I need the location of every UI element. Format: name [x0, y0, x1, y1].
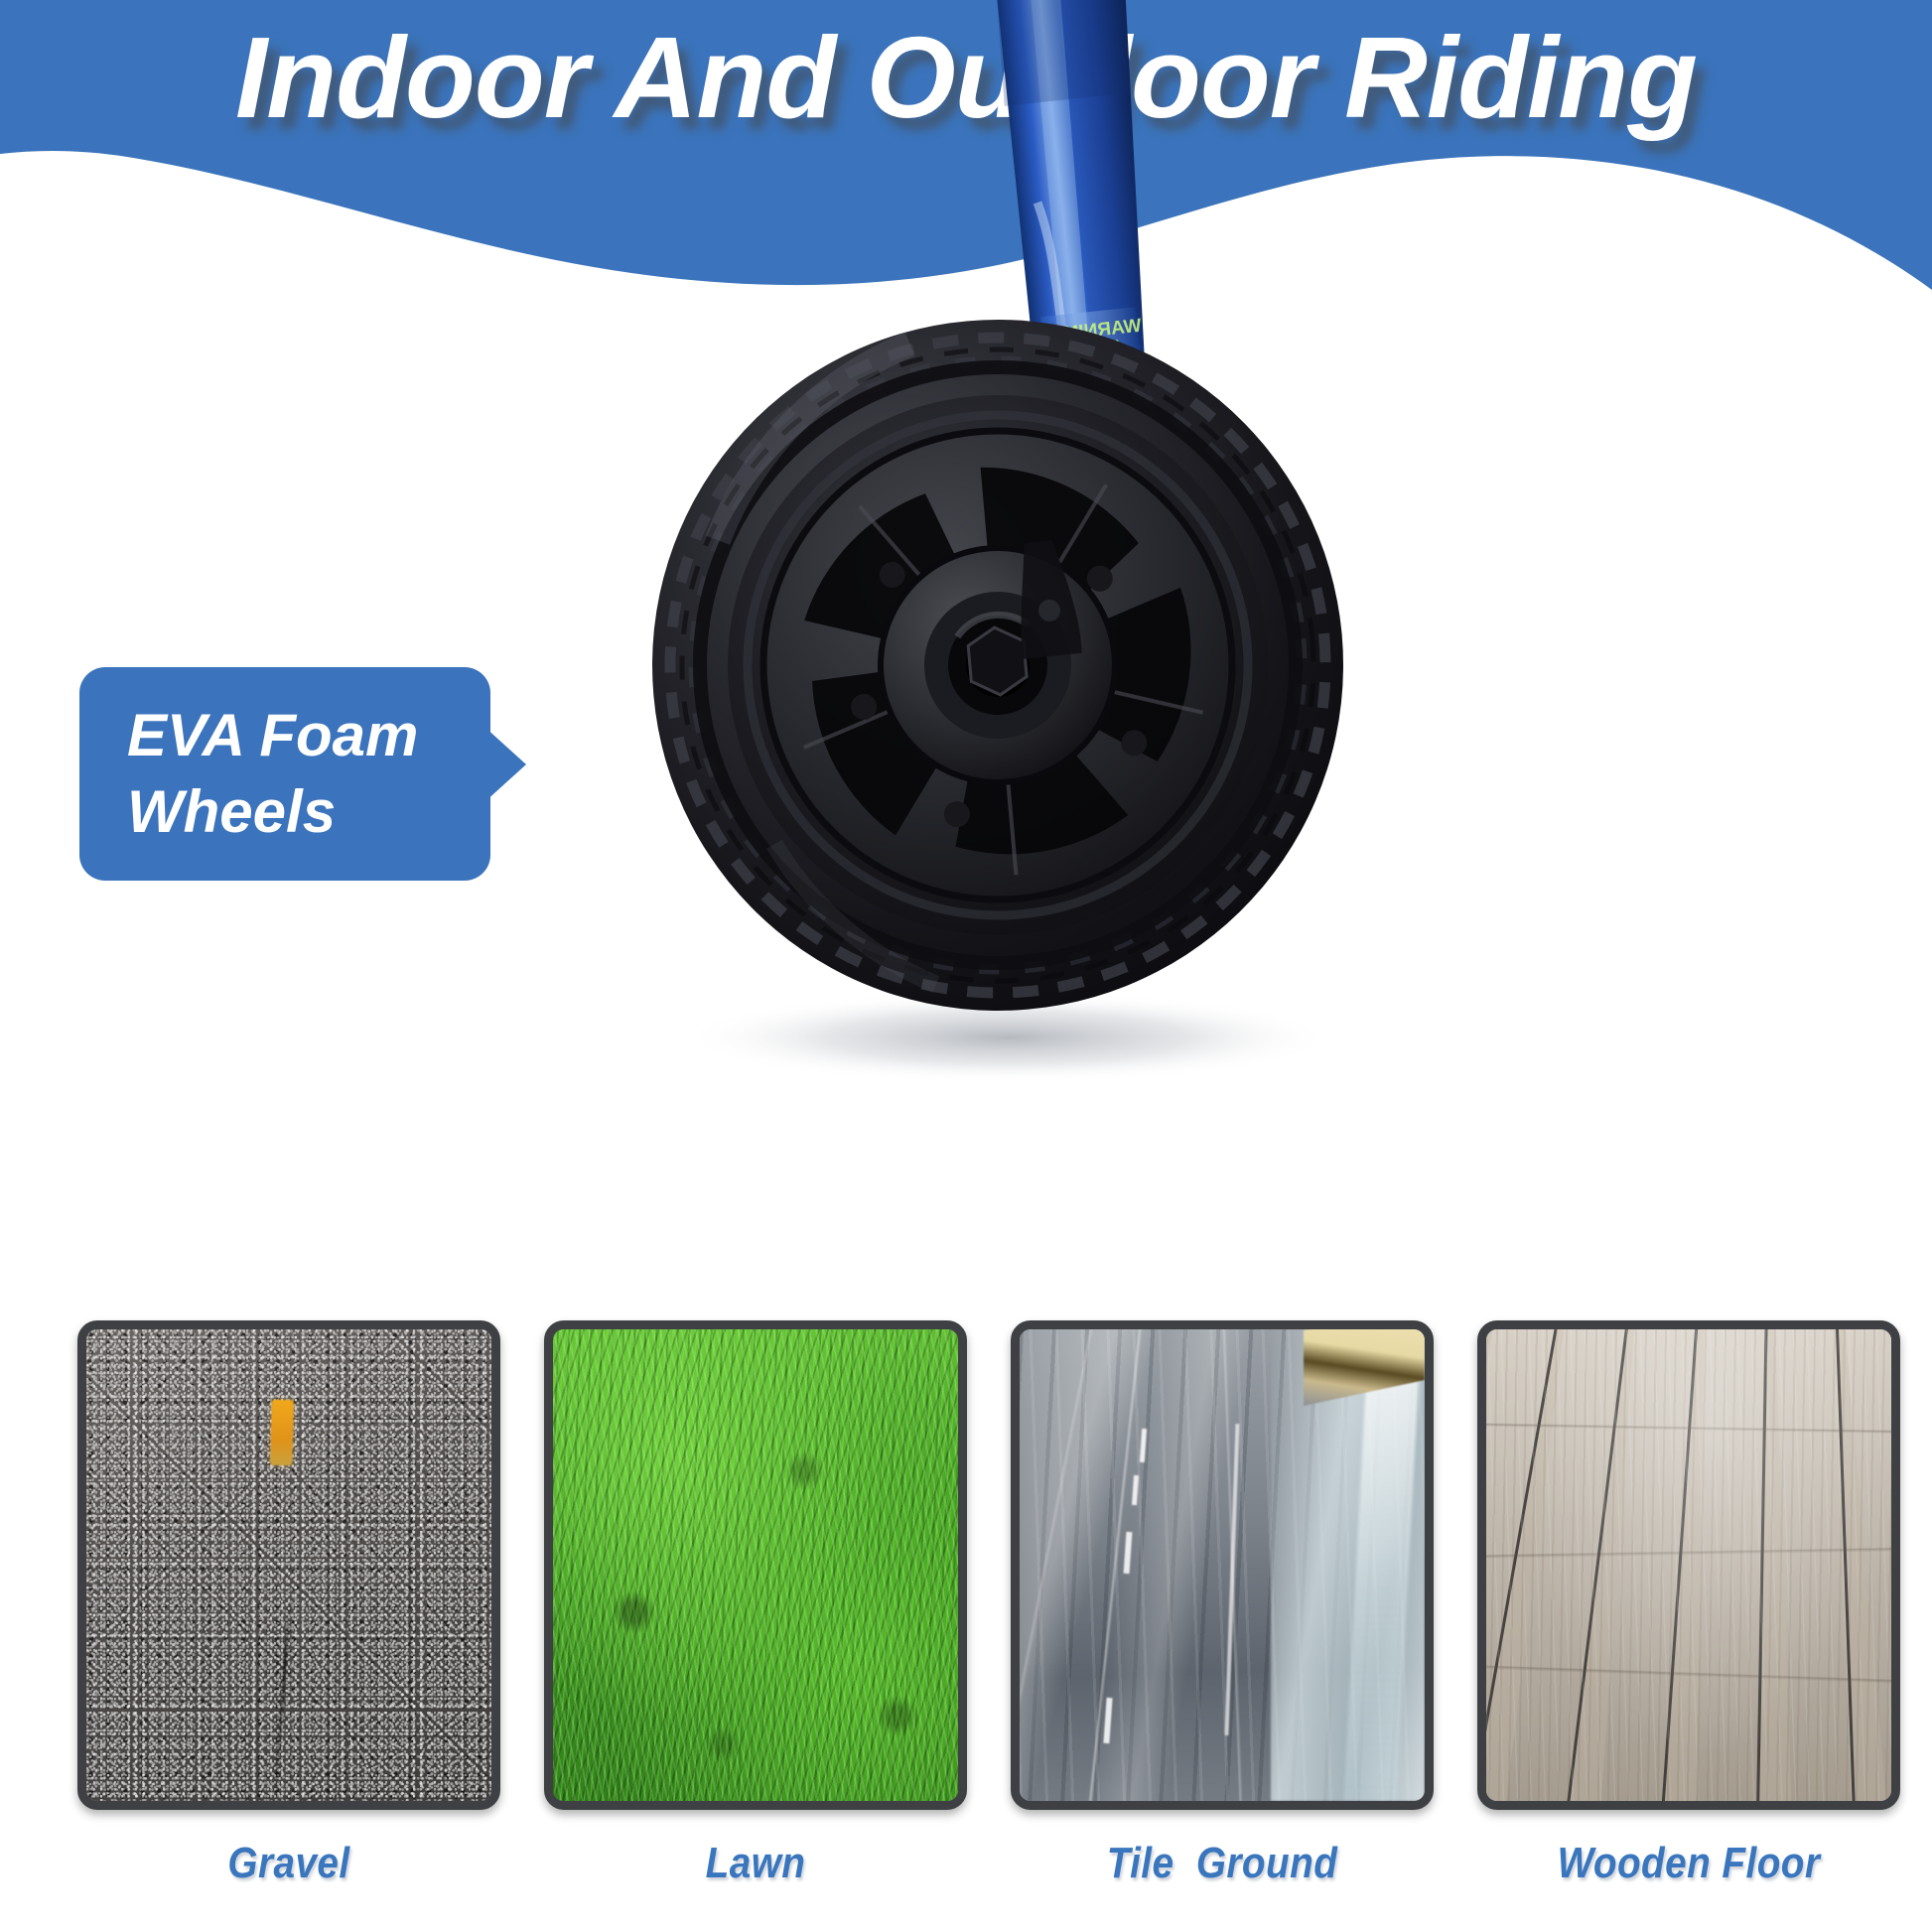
surface-label-gravel: Gravel: [103, 1839, 476, 1888]
surface-thumb-lawn[interactable]: [544, 1320, 967, 1810]
callout-line-1: EVA Foam: [127, 698, 490, 774]
surface-label-wood: Wooden Floor: [1503, 1839, 1875, 1888]
surface-thumb-tile[interactable]: [1011, 1320, 1434, 1810]
wood-shading: [1486, 1329, 1891, 1801]
road-paint-mark: [270, 1400, 294, 1466]
wood-texture: [1486, 1329, 1891, 1801]
callout-text: EVA Foam Wheels: [79, 667, 490, 881]
tire: [623, 291, 1372, 1039]
lawn-shading: [553, 1329, 958, 1801]
feature-callout: EVA Foam Wheels: [79, 667, 516, 881]
callout-line-2: Wheels: [127, 774, 490, 851]
surface-thumb-wood[interactable]: [1477, 1320, 1900, 1810]
surface-label-lawn: Lawn: [570, 1839, 942, 1888]
wheel-illustration: WARNING: [611, 139, 1405, 1201]
page-title: Indoor And Outdoor Riding: [0, 18, 1932, 139]
hero-wheel-image: WARNING: [611, 139, 1405, 1201]
surface-thumb-gravel[interactable]: [77, 1320, 500, 1810]
surface-thumbnail-row: Gravel Lawn Tile Ground: [0, 1320, 1932, 1817]
callout-pointer-icon: [484, 727, 526, 802]
product-feature-card: Indoor And Outdoor Riding: [0, 0, 1932, 1932]
surface-label-tile: Tile Ground: [1036, 1839, 1409, 1888]
